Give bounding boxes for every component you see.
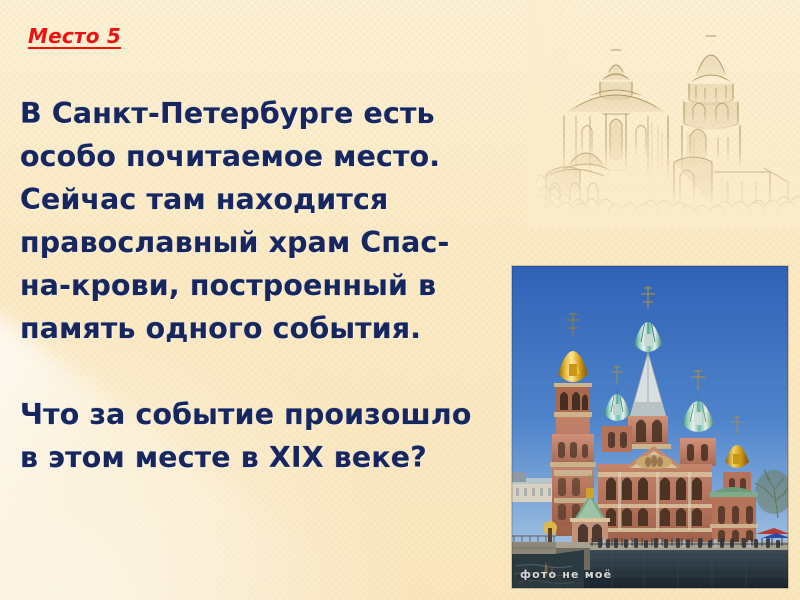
- paragraph-2: Что за событие произошло в этом месте в …: [20, 393, 520, 479]
- paragraph-spacer: [20, 350, 520, 393]
- text-line: В Санкт-Петербурге есть: [20, 92, 520, 135]
- slide-canvas: Место 5 В Санкт-Петербурге есть особо по…: [0, 0, 800, 600]
- text-line: Сейчас там находится: [20, 178, 520, 221]
- text-line: Что за событие произошло: [20, 393, 520, 436]
- paragraph-1: В Санкт-Петербурге есть особо почитаемое…: [20, 92, 520, 350]
- text-line: особо почитаемое место.: [20, 135, 520, 178]
- text-line: православный храм Спас-: [20, 221, 520, 264]
- text-line: на-крови, построенный в: [20, 264, 520, 307]
- slide-title: Место 5: [28, 24, 121, 48]
- church-photo: фото не моё: [512, 266, 788, 588]
- text-line: память одного события.: [20, 307, 520, 350]
- slide-body-text: В Санкт-Петербурге есть особо почитаемое…: [20, 92, 520, 479]
- photo-watermark: фото не моё: [520, 568, 612, 581]
- text-line: в этом месте в XIX веке?: [20, 436, 520, 479]
